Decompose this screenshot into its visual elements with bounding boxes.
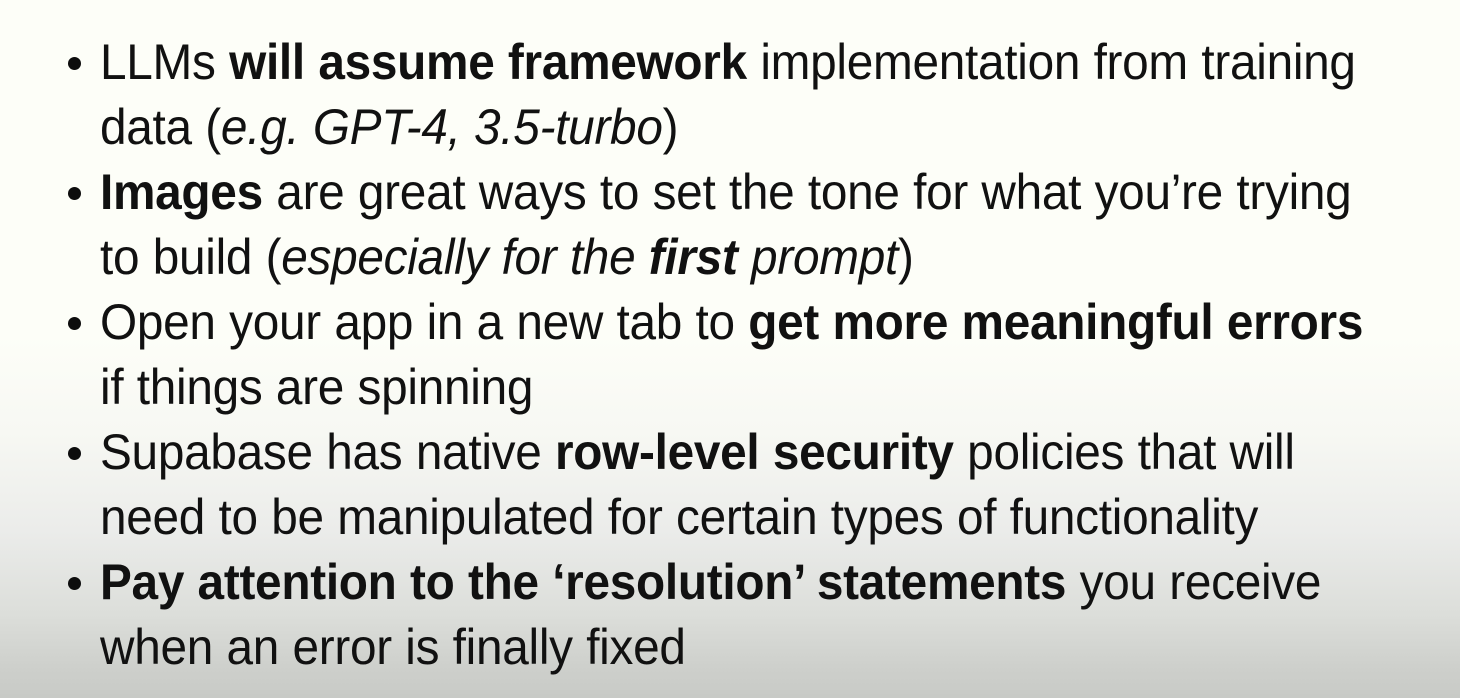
bullet-list: LLMs will assume framework implementatio…: [0, 30, 1460, 680]
text-run: Pay attention to the ‘resolution’ statem…: [100, 554, 1066, 610]
text-run: LLMs: [100, 34, 229, 90]
text-run: will assume framework: [229, 34, 747, 90]
text-run: especially for the: [281, 229, 649, 285]
text-run: Open your app in a new tab to: [100, 294, 748, 350]
text-run: first: [649, 229, 738, 285]
bullet-text: Pay attention to the ‘resolution’ statem…: [100, 550, 1385, 679]
text-run: ): [663, 99, 679, 155]
bullet-item: Open your app in a new tab to get more m…: [0, 290, 1460, 420]
bullet-item: Pay attention to the ‘resolution’ statem…: [0, 550, 1460, 680]
bullet-marker-icon: [68, 447, 81, 460]
bullet-marker-icon: [68, 577, 81, 590]
text-run: e.g. GPT-4, 3.5-turbo: [221, 99, 663, 155]
bullet-marker-icon: [68, 317, 81, 330]
text-run: Images: [100, 164, 263, 220]
bullet-text: Images are great ways to set the tone fo…: [100, 160, 1385, 289]
text-run: get more meaningful errors: [748, 294, 1363, 350]
bullet-text: Open your app in a new tab to get more m…: [100, 290, 1385, 419]
bullet-item: LLMs will assume framework implementatio…: [0, 30, 1460, 160]
bullet-text: LLMs will assume framework implementatio…: [100, 30, 1385, 159]
bullet-text: Supabase has native row-level security p…: [100, 420, 1385, 549]
bullet-item: Images are great ways to set the tone fo…: [0, 160, 1460, 290]
text-run: Supabase has native: [100, 424, 555, 480]
text-run: if things are spinning: [100, 359, 533, 415]
text-run: prompt: [738, 229, 898, 285]
slide-canvas: LLMs will assume framework implementatio…: [0, 0, 1460, 698]
bullet-marker-icon: [68, 187, 81, 200]
text-run: ): [898, 229, 914, 285]
bullet-item: Supabase has native row-level security p…: [0, 420, 1460, 550]
bullet-marker-icon: [68, 57, 81, 70]
text-run: row-level security: [555, 424, 954, 480]
